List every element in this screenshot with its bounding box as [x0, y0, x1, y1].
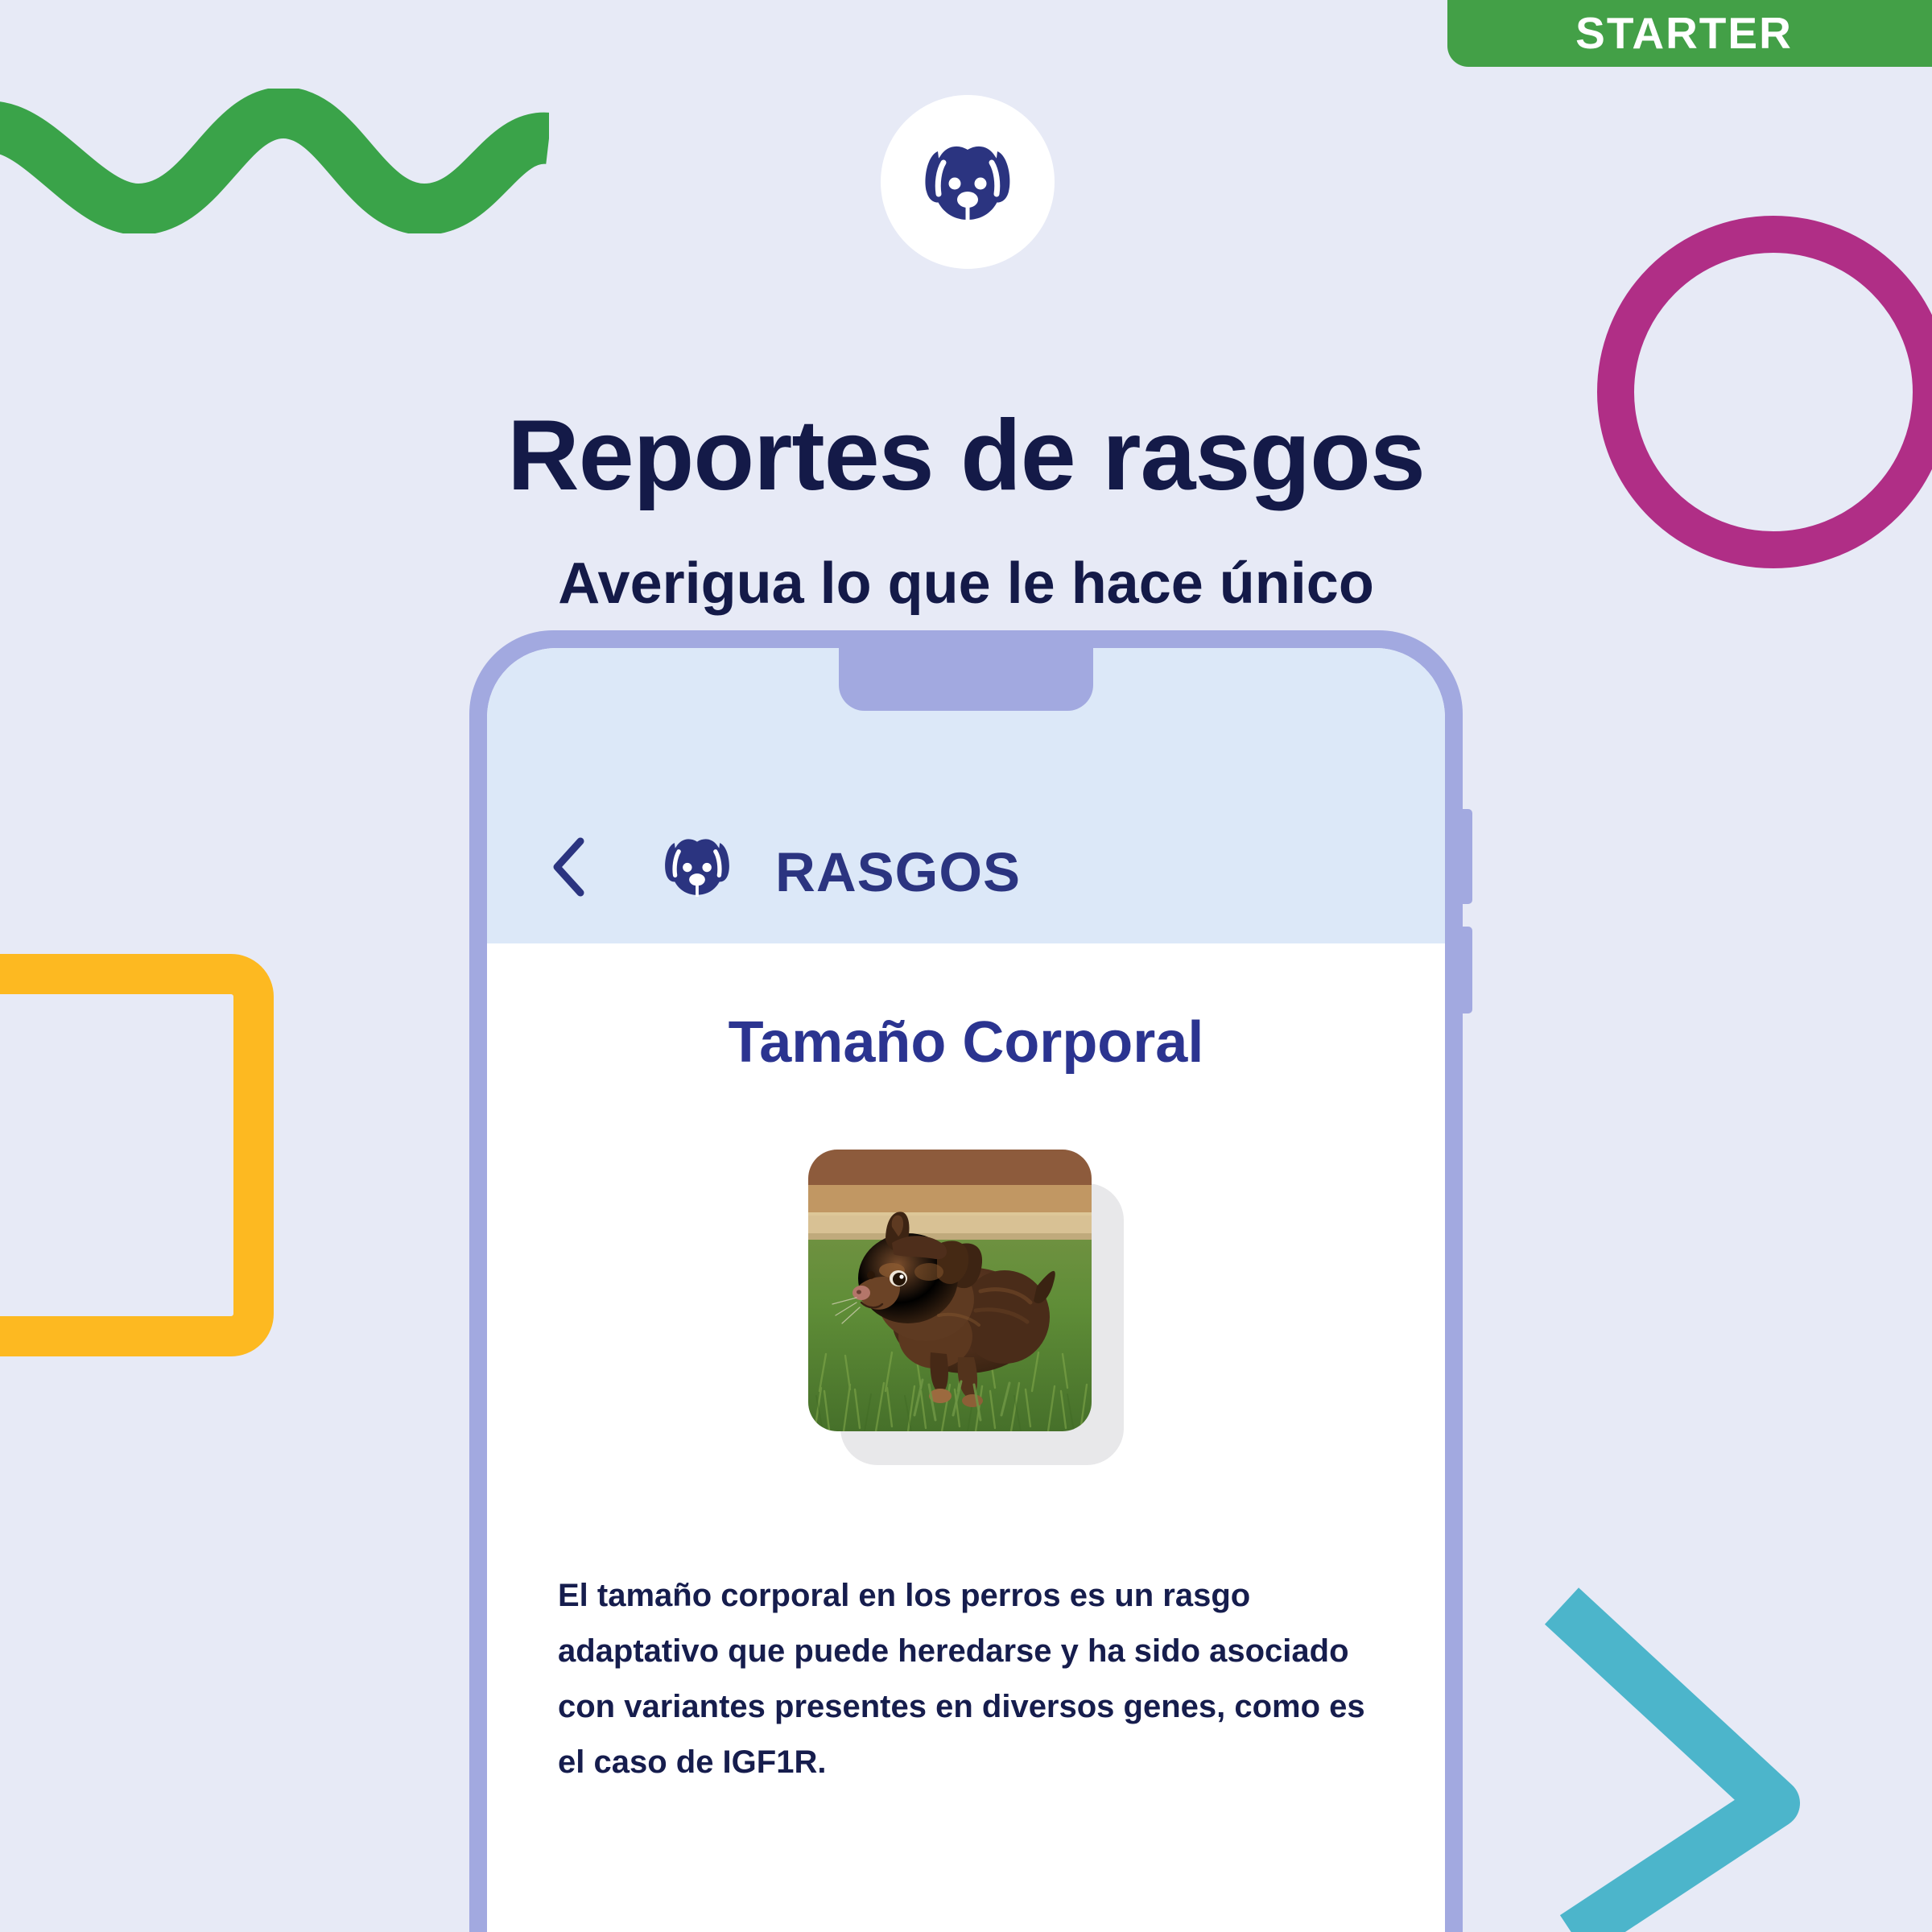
phone-notch — [839, 648, 1093, 711]
trait-photo-card — [808, 1150, 1124, 1465]
poster-canvas: STARTER Reportes de rasgos Averigua lo q… — [0, 0, 1932, 1932]
dog-face-icon — [661, 836, 733, 897]
starter-plan-badge: STARTER — [1447, 0, 1932, 67]
page-title: Reportes de rasgos — [0, 403, 1932, 509]
chevron-left-icon[interactable] — [550, 837, 587, 897]
brand-logo — [881, 95, 1055, 269]
phone-screen: RASGOS Tamaño Corporal — [487, 648, 1445, 1932]
dog-face-icon — [920, 142, 1015, 222]
cyan-chevron-decoration — [1525, 1574, 1932, 1932]
phone-mockup: RASGOS Tamaño Corporal — [469, 630, 1463, 1932]
magenta-ring-decoration — [1590, 181, 1932, 608]
green-wave-decoration — [0, 89, 549, 233]
phone-volume-up-button[interactable] — [1463, 809, 1472, 904]
trait-title: Tamaño Corporal — [487, 943, 1445, 1075]
app-content: Tamaño Corporal — [487, 943, 1445, 1932]
yellow-square-decoration — [0, 954, 274, 1356]
app-header-title: RASGOS — [775, 844, 1021, 900]
starter-badge-label: STARTER — [1575, 11, 1793, 56]
page-subtitle: Averigua lo que le hace único — [0, 552, 1932, 616]
trait-photo — [808, 1150, 1092, 1431]
trait-description: El tamaño corporal en los perros es un r… — [487, 1465, 1445, 1790]
phone-volume-down-button[interactable] — [1463, 927, 1472, 1013]
